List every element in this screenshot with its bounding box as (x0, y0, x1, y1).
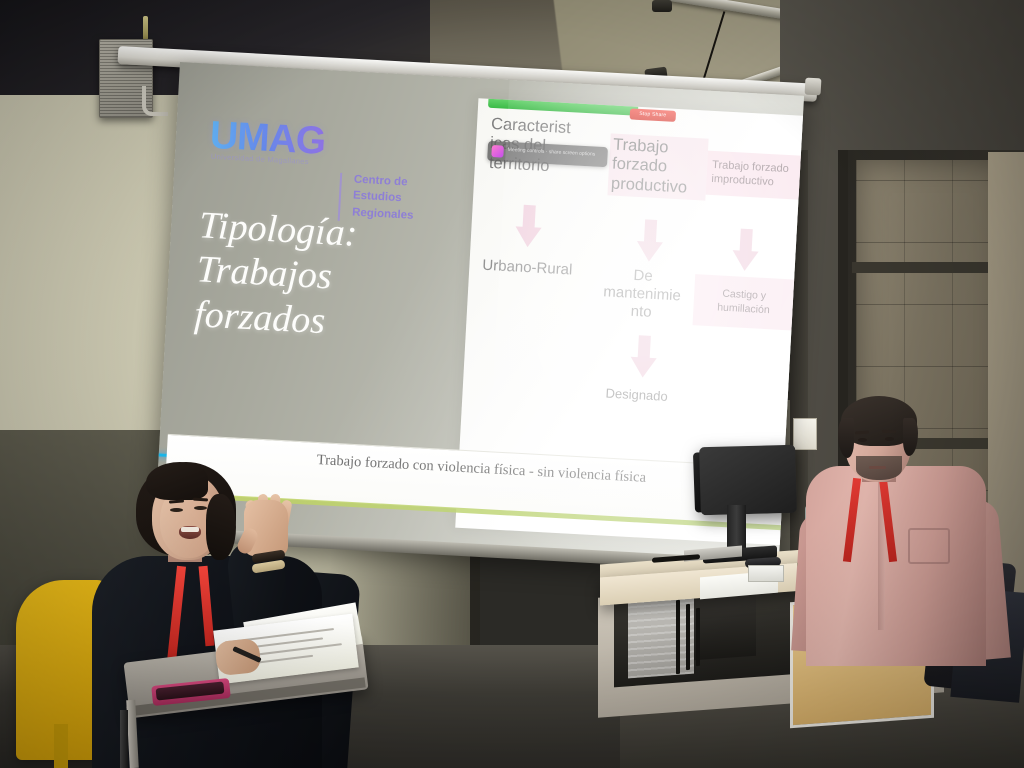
flow-arrow-down (731, 228, 759, 273)
projection-screen-roller-cap (805, 78, 822, 96)
presenter-teeth (181, 527, 199, 532)
wall-notice (793, 418, 817, 450)
room-photo-scene: UMAG Universidad de Magallanes Centro de… (0, 0, 1024, 768)
flow-header-productive: Trabajo forzado productivo (607, 133, 708, 201)
panelist-eye (858, 438, 867, 442)
desktop-pc-tower (628, 590, 694, 679)
flow-leaf-urban-rural: Urbano-Rural (475, 256, 580, 280)
small-box (748, 565, 784, 582)
presenter-hair-front (146, 462, 208, 500)
flow-arrow-down (636, 219, 664, 264)
pc-cable (696, 608, 700, 666)
pc-cable (686, 604, 690, 670)
pc-equipment (694, 594, 756, 661)
speaker-bracket (142, 86, 168, 116)
ceiling-hook (143, 16, 148, 40)
flow-leaf-designated: Designado (578, 384, 695, 406)
flow-header-unproductive: Trabajo forzado improductivo (706, 151, 804, 200)
microphone-stand (120, 710, 128, 768)
panelist-torso (806, 466, 986, 666)
panelist-eye (885, 437, 894, 441)
chair-leg (54, 724, 68, 768)
slide-title: Tipología: Trabajos forzados (193, 203, 450, 350)
desk-monitor (699, 445, 797, 515)
shirt-pocket (908, 528, 950, 564)
tooltip-text: Meeting controls · share screen options (508, 147, 604, 158)
panelist-hair-side (838, 418, 854, 458)
flow-leaf-maintenance: De mantenimie nto (591, 265, 694, 324)
app-icon (491, 145, 504, 158)
panelist-mouth (869, 466, 886, 469)
conduit-clamp (652, 0, 672, 12)
presenter-eye (194, 506, 207, 510)
pc-cable (676, 600, 680, 674)
stop-share-button[interactable]: Stop Share (630, 108, 677, 121)
presenter-hair-strand (206, 494, 236, 560)
presenter-eye (170, 508, 183, 512)
screen-share-indicator-bar (488, 99, 638, 116)
umag-logo: UMAG Universidad de Magallanes Centro de… (209, 116, 326, 161)
flow-leaf-punishment: Castigo y humillación (693, 274, 796, 331)
flow-arrow-down (630, 335, 658, 380)
flow-arrow-down (514, 204, 542, 249)
